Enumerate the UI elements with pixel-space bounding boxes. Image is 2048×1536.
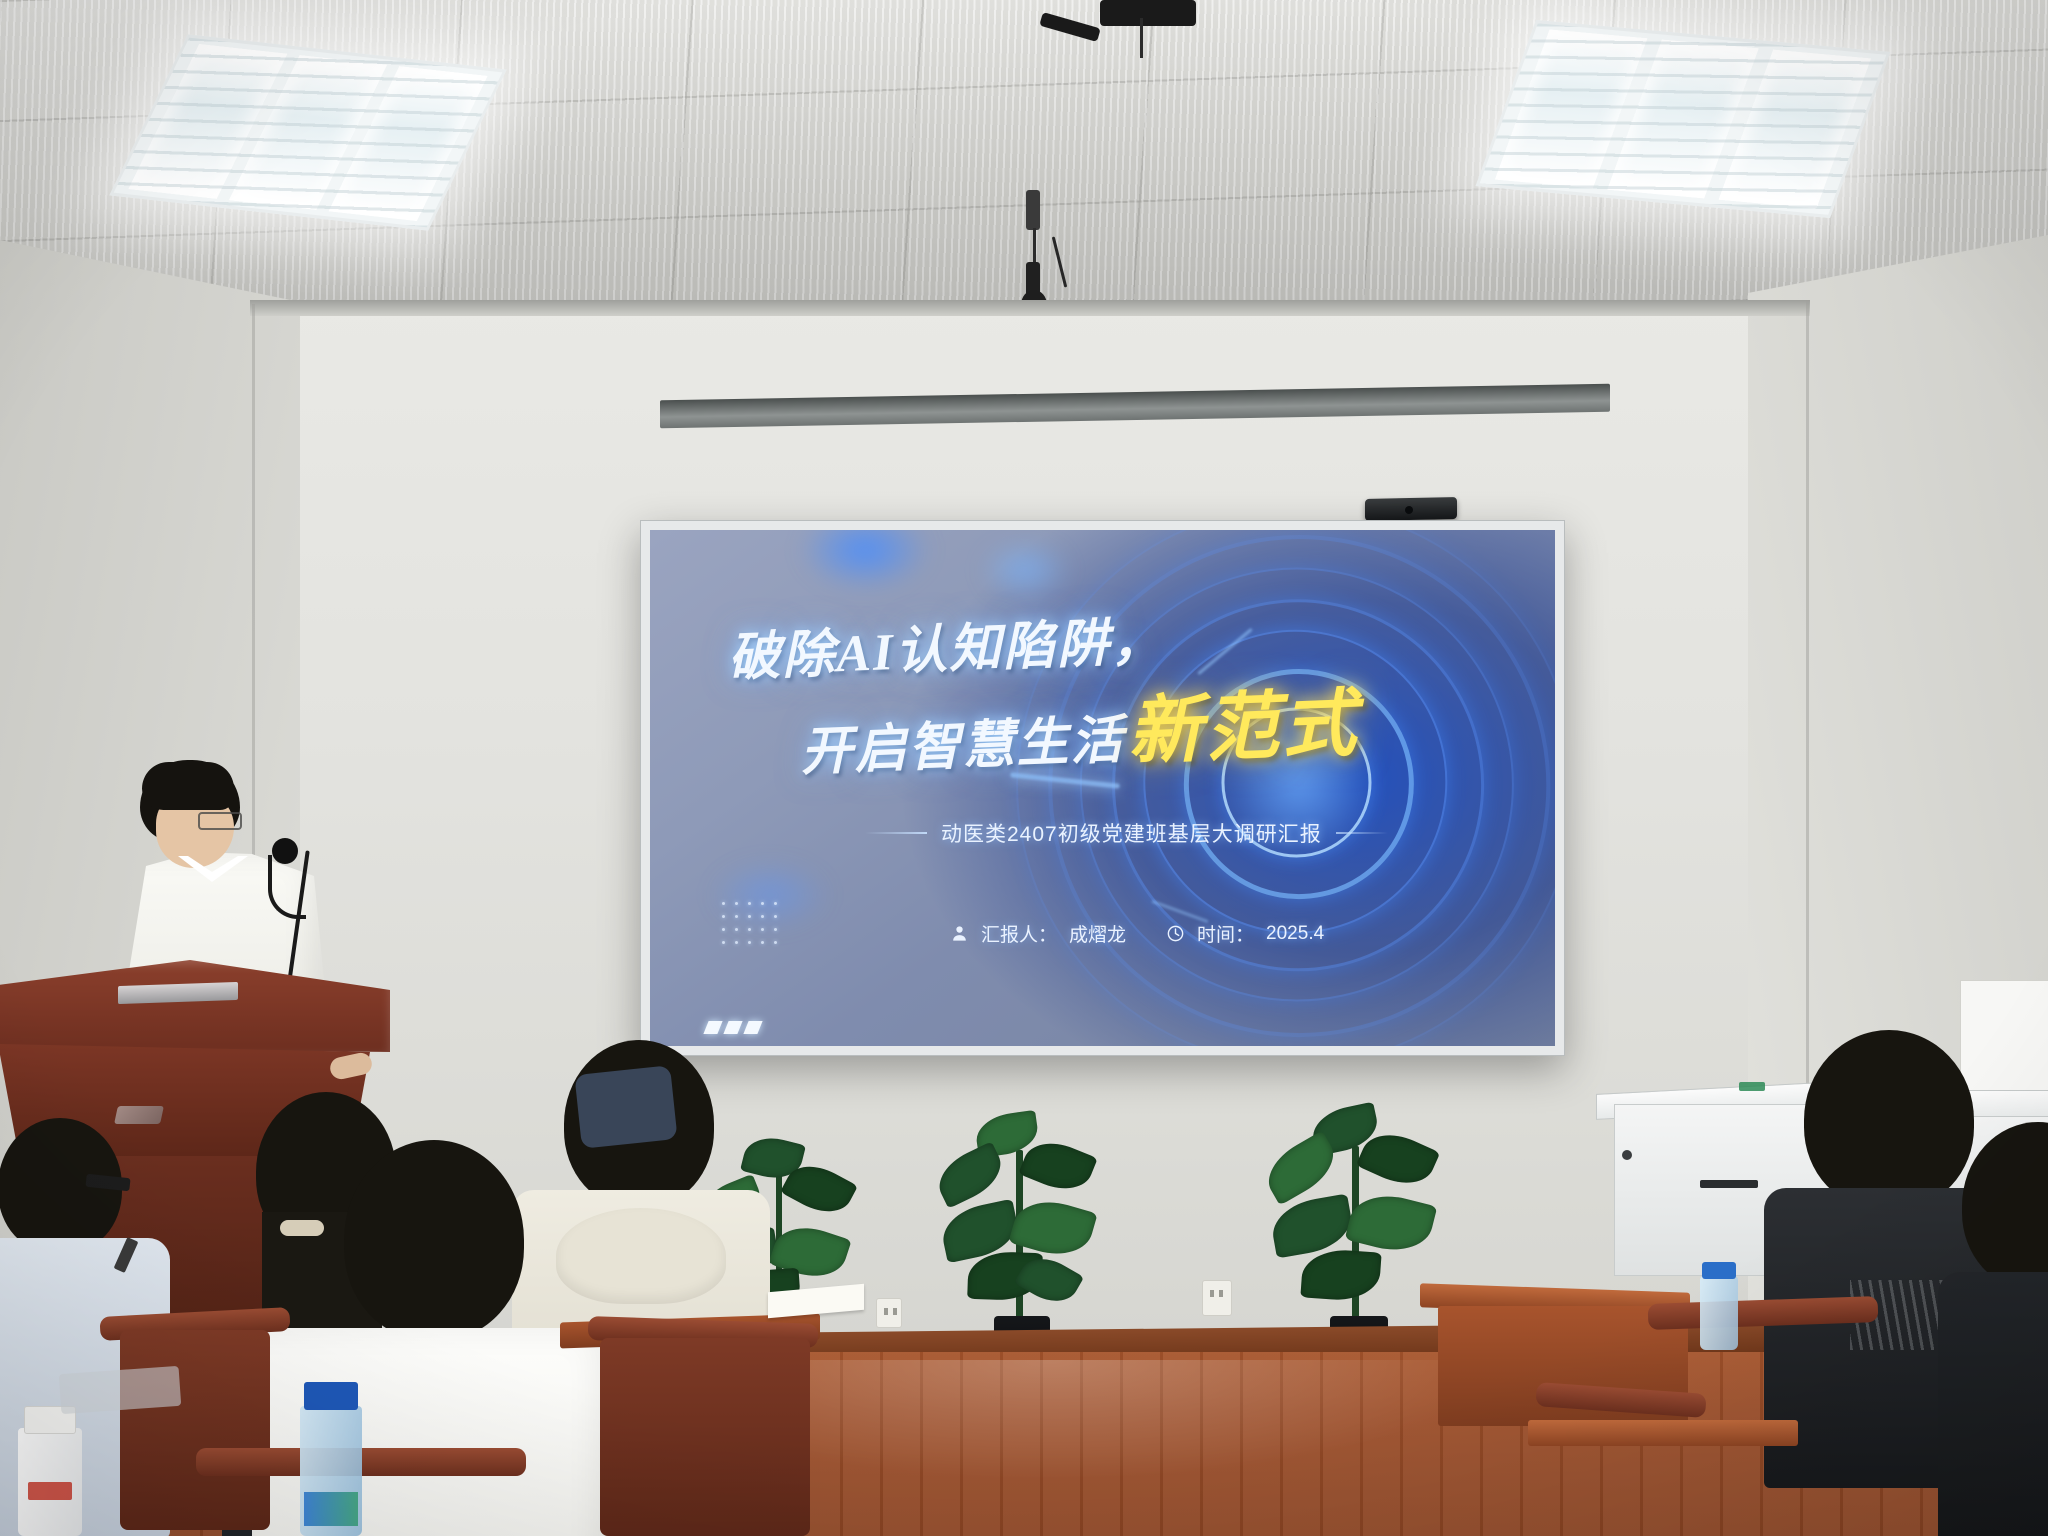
slide-dot-grid-decoration bbox=[722, 902, 787, 954]
photo-scene: 破除AI认知陷阱， 开启智慧生活新范式 动医类2407初级党建班基层大调研汇报 … bbox=[0, 0, 2048, 1536]
power-socket bbox=[1202, 1280, 1232, 1316]
presenter-fringe bbox=[142, 762, 234, 810]
desk-right-front bbox=[1528, 1420, 1798, 1446]
wall-cornice bbox=[250, 300, 1810, 316]
bottle-blue-cap-right-lid bbox=[1702, 1262, 1736, 1279]
projection-screen-frame: 破除AI认知陷阱， 开启智慧生活新范式 动医类2407初级党建班基层大调研汇报 … bbox=[640, 520, 1565, 1056]
screen-top-camera-bar bbox=[1365, 497, 1457, 521]
presenter-glasses bbox=[198, 812, 242, 830]
person-icon bbox=[950, 924, 969, 943]
audience-far-right bbox=[1962, 1122, 2048, 1522]
chair-center bbox=[600, 1338, 810, 1536]
cabinet-lock bbox=[1622, 1150, 1632, 1160]
slide-subtitle: 动医类2407初级党建班基层大调研汇报 bbox=[941, 818, 1322, 848]
date-value: 2025.4 bbox=[1266, 923, 1324, 945]
slide-title-line-2-yellow: 新范式 bbox=[1126, 683, 1360, 774]
bottle-blue-label bbox=[304, 1492, 358, 1526]
projection-screen: 破除AI认知陷阱， 开启智慧生活新范式 动医类2407初级党建班基层大调研汇报 … bbox=[650, 530, 1555, 1046]
troffer-light-right bbox=[1476, 20, 1891, 218]
lectern-control-plate bbox=[118, 982, 238, 1004]
projector-mount-bracket bbox=[1100, 0, 1196, 26]
podium-microphone bbox=[272, 838, 298, 864]
projector-cable bbox=[1140, 18, 1143, 58]
hair-clip bbox=[574, 1065, 677, 1149]
green-sticker bbox=[1739, 1082, 1765, 1091]
slide-title-line-2: 开启智慧生活新范式 bbox=[799, 687, 1360, 782]
clock-icon bbox=[1166, 924, 1185, 943]
slide-title-line-1: 破除AI认知陷阱， bbox=[727, 617, 1166, 686]
slide-subtitle-row: 动医类2407初级党建班基层大调研汇报 bbox=[865, 818, 1388, 848]
presenter-name: 成熠龙 bbox=[1069, 920, 1126, 947]
lectern-top bbox=[0, 960, 390, 1052]
presenter-label: 汇报人： bbox=[981, 920, 1057, 947]
bottle-label-red bbox=[28, 1482, 72, 1500]
subtitle-dash-right bbox=[1336, 832, 1388, 834]
hanging-mic-mount bbox=[1026, 190, 1040, 230]
bottle-blue-cap-lid bbox=[304, 1382, 358, 1410]
slide-title-line-2-white: 开启智慧生活 bbox=[799, 712, 1125, 781]
slide-text-block: 破除AI认知陷阱， 开启智慧生活新范式 动医类2407初级党建班基层大调研汇报 … bbox=[650, 530, 1555, 1046]
subtitle-dash-left bbox=[865, 832, 927, 834]
paper-stack bbox=[59, 1366, 181, 1414]
bottle-blue-cap-right bbox=[1700, 1276, 1738, 1350]
chair-left bbox=[120, 1330, 270, 1530]
cabinet-handle bbox=[1700, 1180, 1758, 1188]
slide-bars-decoration bbox=[703, 1021, 762, 1034]
slide-meta-row: 汇报人： 成熠龙 时间： 2025.4 bbox=[950, 920, 1324, 947]
date-label: 时间： bbox=[1197, 920, 1254, 947]
